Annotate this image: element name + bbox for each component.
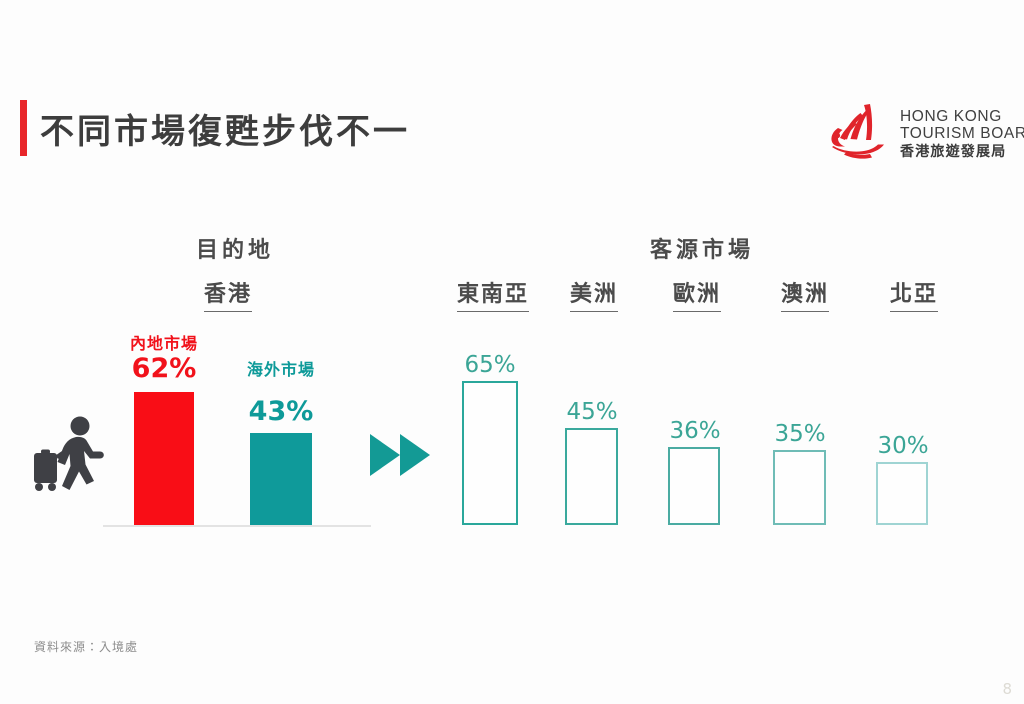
bar-value-north-asia: 30% xyxy=(863,433,943,459)
bar-value-southeast-asia: 65% xyxy=(450,352,530,378)
bar-value-americas: 45% xyxy=(552,399,632,425)
chart-source-markets: 65% 45% 36% 35% 30% xyxy=(0,0,1024,526)
bar-southeast-asia[interactable] xyxy=(462,381,518,525)
bar-americas[interactable] xyxy=(565,428,618,525)
slide-canvas: 不同市場復甦步伐不一 HONG KONG TOURISM BOARD 香港旅遊發 xyxy=(0,0,1024,704)
bar-europe[interactable] xyxy=(668,447,720,525)
bar-value-australia: 35% xyxy=(760,421,840,447)
source-note: 資料來源：入境處 xyxy=(34,638,138,655)
page-number: 8 xyxy=(1002,680,1012,698)
bar-value-europe: 36% xyxy=(655,418,735,444)
bar-australia[interactable] xyxy=(773,450,826,525)
bar-north-asia[interactable] xyxy=(876,462,928,525)
